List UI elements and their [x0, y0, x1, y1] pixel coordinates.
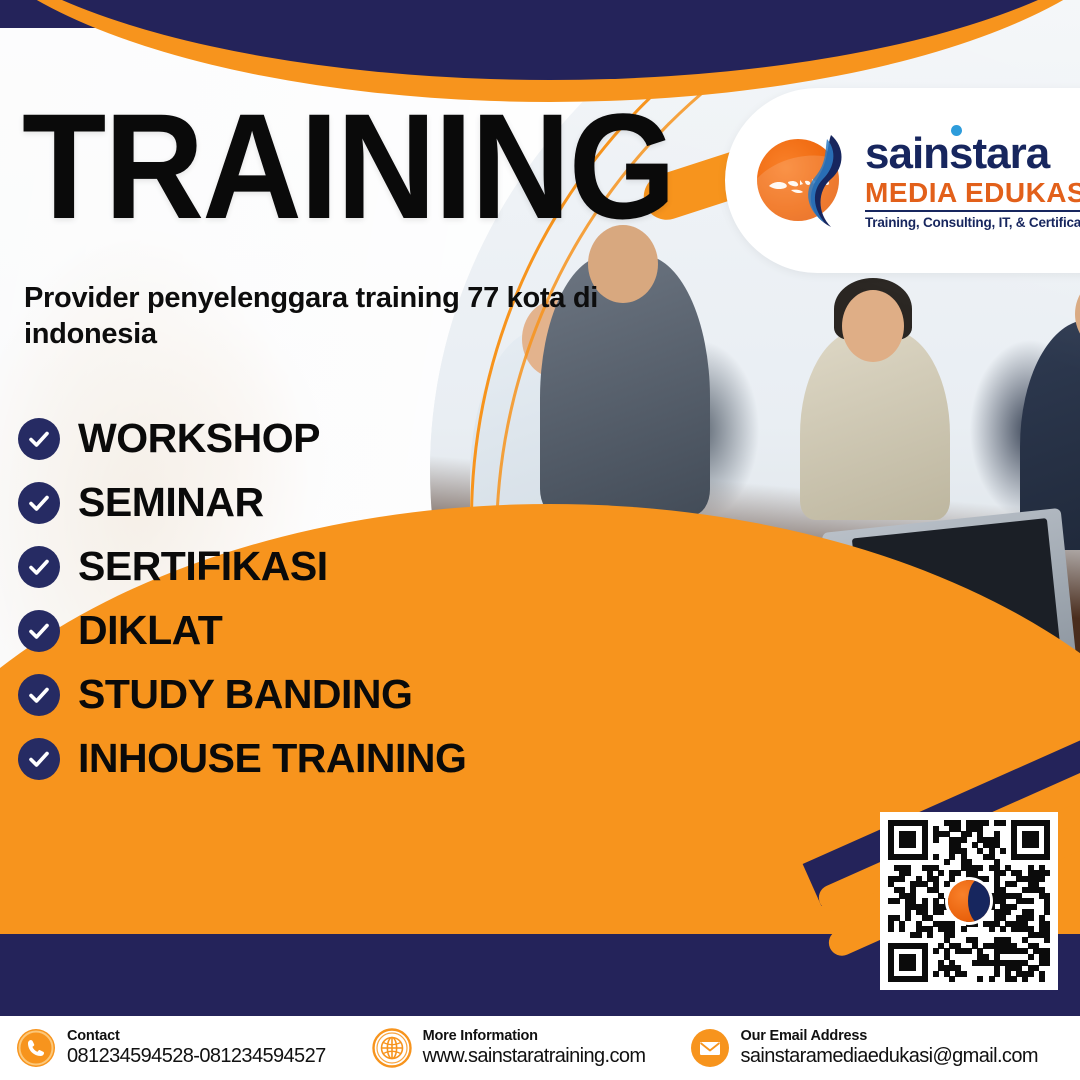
logo-subtitle: MEDIA EDUKASI: [865, 179, 1080, 212]
check-circle-icon: [18, 674, 60, 716]
check-circle-icon: [18, 610, 60, 652]
globe-icon: [372, 1028, 412, 1068]
list-item: WORKSHOP: [18, 415, 466, 462]
footer-email-value: sainstaramediaedukasi@gmail.com: [741, 1045, 1038, 1068]
logo-tagline: Training, Consulting, IT, & Certificatio…: [865, 216, 1080, 230]
footer-contact-item[interactable]: Contact 081234594528-081234594527: [16, 1028, 326, 1068]
envelope-icon: [690, 1028, 730, 1068]
footer-contact-bar: Contact 081234594528-081234594527 More I…: [0, 1012, 1080, 1080]
logo-wordmark: sainstara MEDIA EDUKASI Training, Consul…: [865, 132, 1080, 230]
footer-website-item[interactable]: More Information www.sainstaratraining.c…: [372, 1028, 646, 1068]
check-circle-icon: [18, 738, 60, 780]
qr-code-matrix: [888, 820, 1050, 982]
footer-website-value: www.sainstaratraining.com: [423, 1045, 646, 1068]
check-circle-icon: [18, 546, 60, 588]
list-item: SEMINAR: [18, 479, 466, 526]
page-title: TRAINING: [22, 95, 674, 238]
list-item-label: DIKLAT: [78, 607, 222, 654]
footer-email-item[interactable]: Our Email Address sainstaramediaedukasi@…: [690, 1028, 1038, 1068]
logo-blue-dot-icon: [951, 125, 962, 136]
sainstara-logo-icon: [948, 880, 990, 922]
footer-email-title: Our Email Address: [741, 1028, 1038, 1045]
check-circle-icon: [18, 482, 60, 524]
list-item: DIKLAT: [18, 607, 466, 654]
logo-panel: sainstara MEDIA EDUKASI Training, Consul…: [725, 88, 1080, 273]
qr-code[interactable]: [880, 812, 1058, 990]
list-item-label: WORKSHOP: [78, 415, 320, 462]
sainstara-logo-icon: [755, 133, 851, 229]
footer-contact-title: Contact: [67, 1028, 326, 1045]
footer-website-text: More Information www.sainstaratraining.c…: [423, 1028, 646, 1068]
footer-website-title: More Information: [423, 1028, 646, 1045]
footer-contact-text: Contact 081234594528-081234594527: [67, 1028, 326, 1068]
phone-icon: [16, 1028, 56, 1068]
list-item: INHOUSE TRAINING: [18, 735, 466, 782]
poster-canvas: sainstara MEDIA EDUKASI Training, Consul…: [0, 0, 1080, 1080]
logo-name: sainstara: [865, 132, 1080, 176]
footer-contact-value: 081234594528-081234594527: [67, 1045, 326, 1068]
logo-name-text: sainstara: [865, 129, 1049, 178]
list-item: SERTIFIKASI: [18, 543, 466, 590]
footer-email-text: Our Email Address sainstaramediaedukasi@…: [741, 1028, 1038, 1068]
list-item-label: SERTIFIKASI: [78, 543, 328, 590]
page-subtitle: Provider penyelenggara training 77 kota …: [24, 280, 644, 353]
check-circle-icon: [18, 418, 60, 460]
list-item-label: SEMINAR: [78, 479, 264, 526]
list-item-label: STUDY BANDING: [78, 671, 412, 718]
list-item: STUDY BANDING: [18, 671, 466, 718]
logo-flame-swoosh-icon: [801, 133, 853, 229]
feature-list: WORKSHOP SEMINAR SERTIFIKASI DIKLAT STUD…: [18, 415, 466, 782]
list-item-label: INHOUSE TRAINING: [78, 735, 466, 782]
